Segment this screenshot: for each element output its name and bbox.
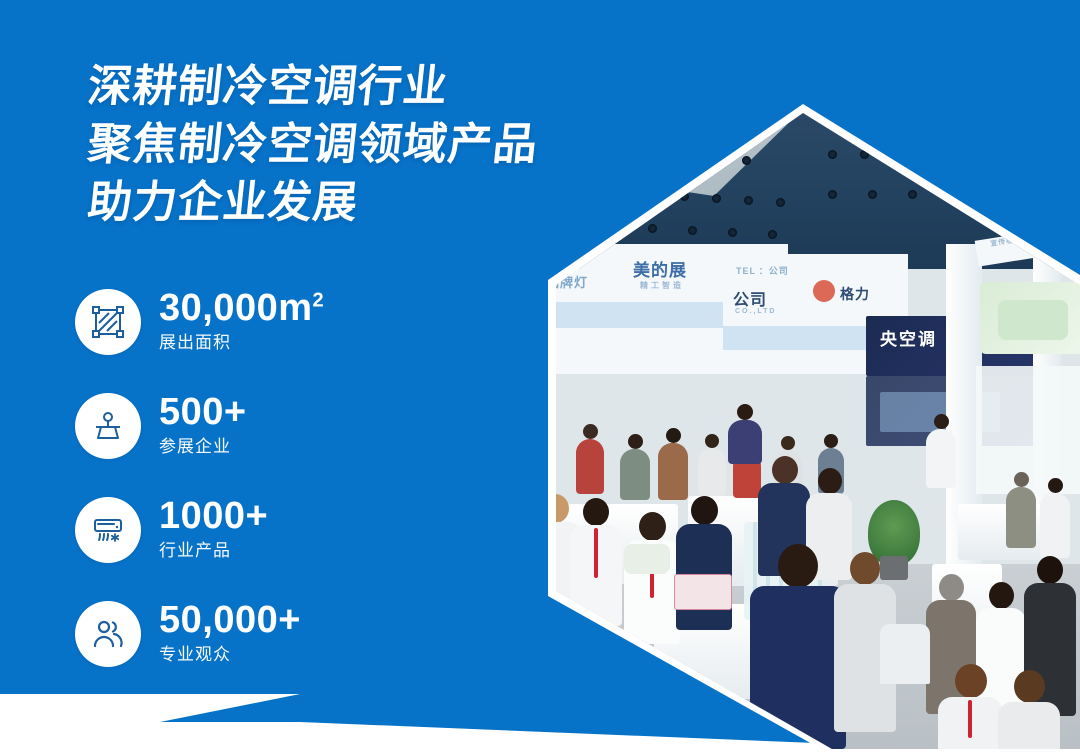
stat-value: 1000+ (159, 496, 268, 536)
stat-value: 500+ (159, 392, 247, 432)
stat-label: 参展企业 (159, 434, 247, 460)
headline-line-1: 深耕制冷空调行业 (85, 58, 541, 116)
stat-label: 展出面积 (159, 330, 324, 356)
stat-label: 行业产品 (159, 538, 268, 564)
page-title: 深耕制冷空调行业 聚焦制冷空调领域产品 助力企业发展 (88, 58, 538, 232)
stat-item-visitors: 50,000+ 专业观众 (75, 600, 324, 668)
stat-value: 50,000+ (159, 600, 301, 640)
headline-line-3: 助力企业发展 (85, 174, 541, 232)
headline-line-2: 聚焦制冷空调领域产品 (85, 116, 541, 174)
stat-item-exhibitors: 500+ 参展企业 (75, 392, 324, 460)
stat-value: 30,000m2 (159, 288, 324, 328)
stats-list: 30,000m2 展出面积 500+ 参展企业 (75, 288, 324, 668)
stat-item-exhibition-area: 30,000m2 展出面积 (75, 288, 324, 356)
stat-text-block: 500+ 参展企业 (159, 392, 247, 460)
poster-canvas: 深耕制冷空调行业 聚焦制冷空调领域产品 助力企业发展 30,000m2 (0, 0, 1080, 754)
exhibition-booth-icon (75, 393, 141, 459)
stat-text-block: 30,000m2 展出面积 (159, 288, 324, 356)
visitors-people-icon (75, 601, 141, 667)
person (576, 424, 604, 494)
stat-text-block: 50,000+ 专业观众 (159, 600, 301, 668)
air-conditioner-icon (75, 497, 141, 563)
area-measure-icon (75, 289, 141, 355)
stat-text-block: 1000+ 行业产品 (159, 496, 268, 564)
stat-label: 专业观众 (159, 642, 301, 668)
stat-item-products: 1000+ 行业产品 (75, 496, 324, 564)
